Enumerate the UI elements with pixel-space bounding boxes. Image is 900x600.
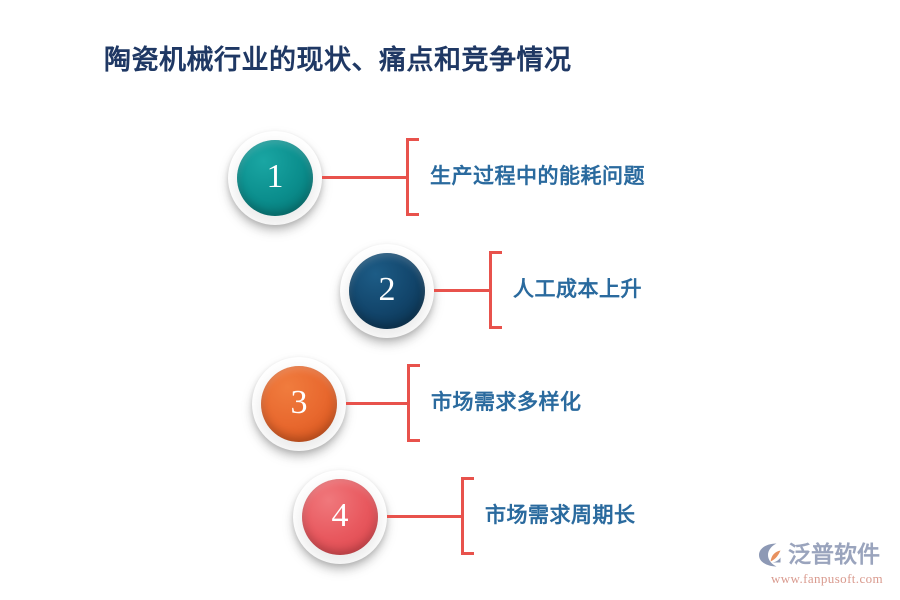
number-badge-4[interactable]: 4 — [293, 470, 387, 564]
watermark-brand-name: 泛普软件 — [788, 542, 880, 568]
number-badge-circle-1: 1 — [237, 140, 313, 216]
connector-line-2 — [434, 289, 490, 292]
number-badge-label-4: 4 — [332, 499, 349, 533]
connector-line-1 — [322, 176, 407, 179]
list-item-label-2: 人工成本上升 — [513, 273, 642, 303]
connector-line-3 — [346, 402, 408, 405]
list-item-label-3: 市场需求多样化 — [431, 386, 582, 416]
fanpu-logo-icon — [757, 542, 785, 568]
page-title: 陶瓷机械行业的现状、痛点和竞争情况 — [104, 38, 572, 77]
bracket-icon-2 — [489, 251, 502, 329]
number-badge-3[interactable]: 3 — [252, 357, 346, 451]
number-badge-label-2: 2 — [379, 273, 396, 307]
number-badge-circle-4: 4 — [302, 479, 378, 555]
watermark-logo: 泛普软件 www.fanpusoft.com — [757, 540, 897, 592]
bracket-icon-1 — [406, 138, 419, 216]
number-badge-circle-2: 2 — [349, 253, 425, 329]
number-badge-2[interactable]: 2 — [340, 244, 434, 338]
watermark-url: www.fanpusoft.com — [757, 571, 897, 587]
slide-canvas: 陶瓷机械行业的现状、痛点和竞争情况 1 生产过程中的能耗问题 2 人工成本上升 … — [0, 0, 900, 600]
number-badge-1[interactable]: 1 — [228, 131, 322, 225]
number-badge-label-1: 1 — [267, 160, 284, 194]
bracket-icon-4 — [461, 477, 474, 555]
list-item-label-4: 市场需求周期长 — [485, 499, 636, 529]
list-item-label-1: 生产过程中的能耗问题 — [430, 160, 645, 190]
bracket-icon-3 — [407, 364, 420, 442]
number-badge-circle-3: 3 — [261, 366, 337, 442]
number-badge-label-3: 3 — [291, 386, 308, 420]
connector-line-4 — [387, 515, 462, 518]
watermark-brand-row: 泛普软件 — [757, 540, 897, 570]
